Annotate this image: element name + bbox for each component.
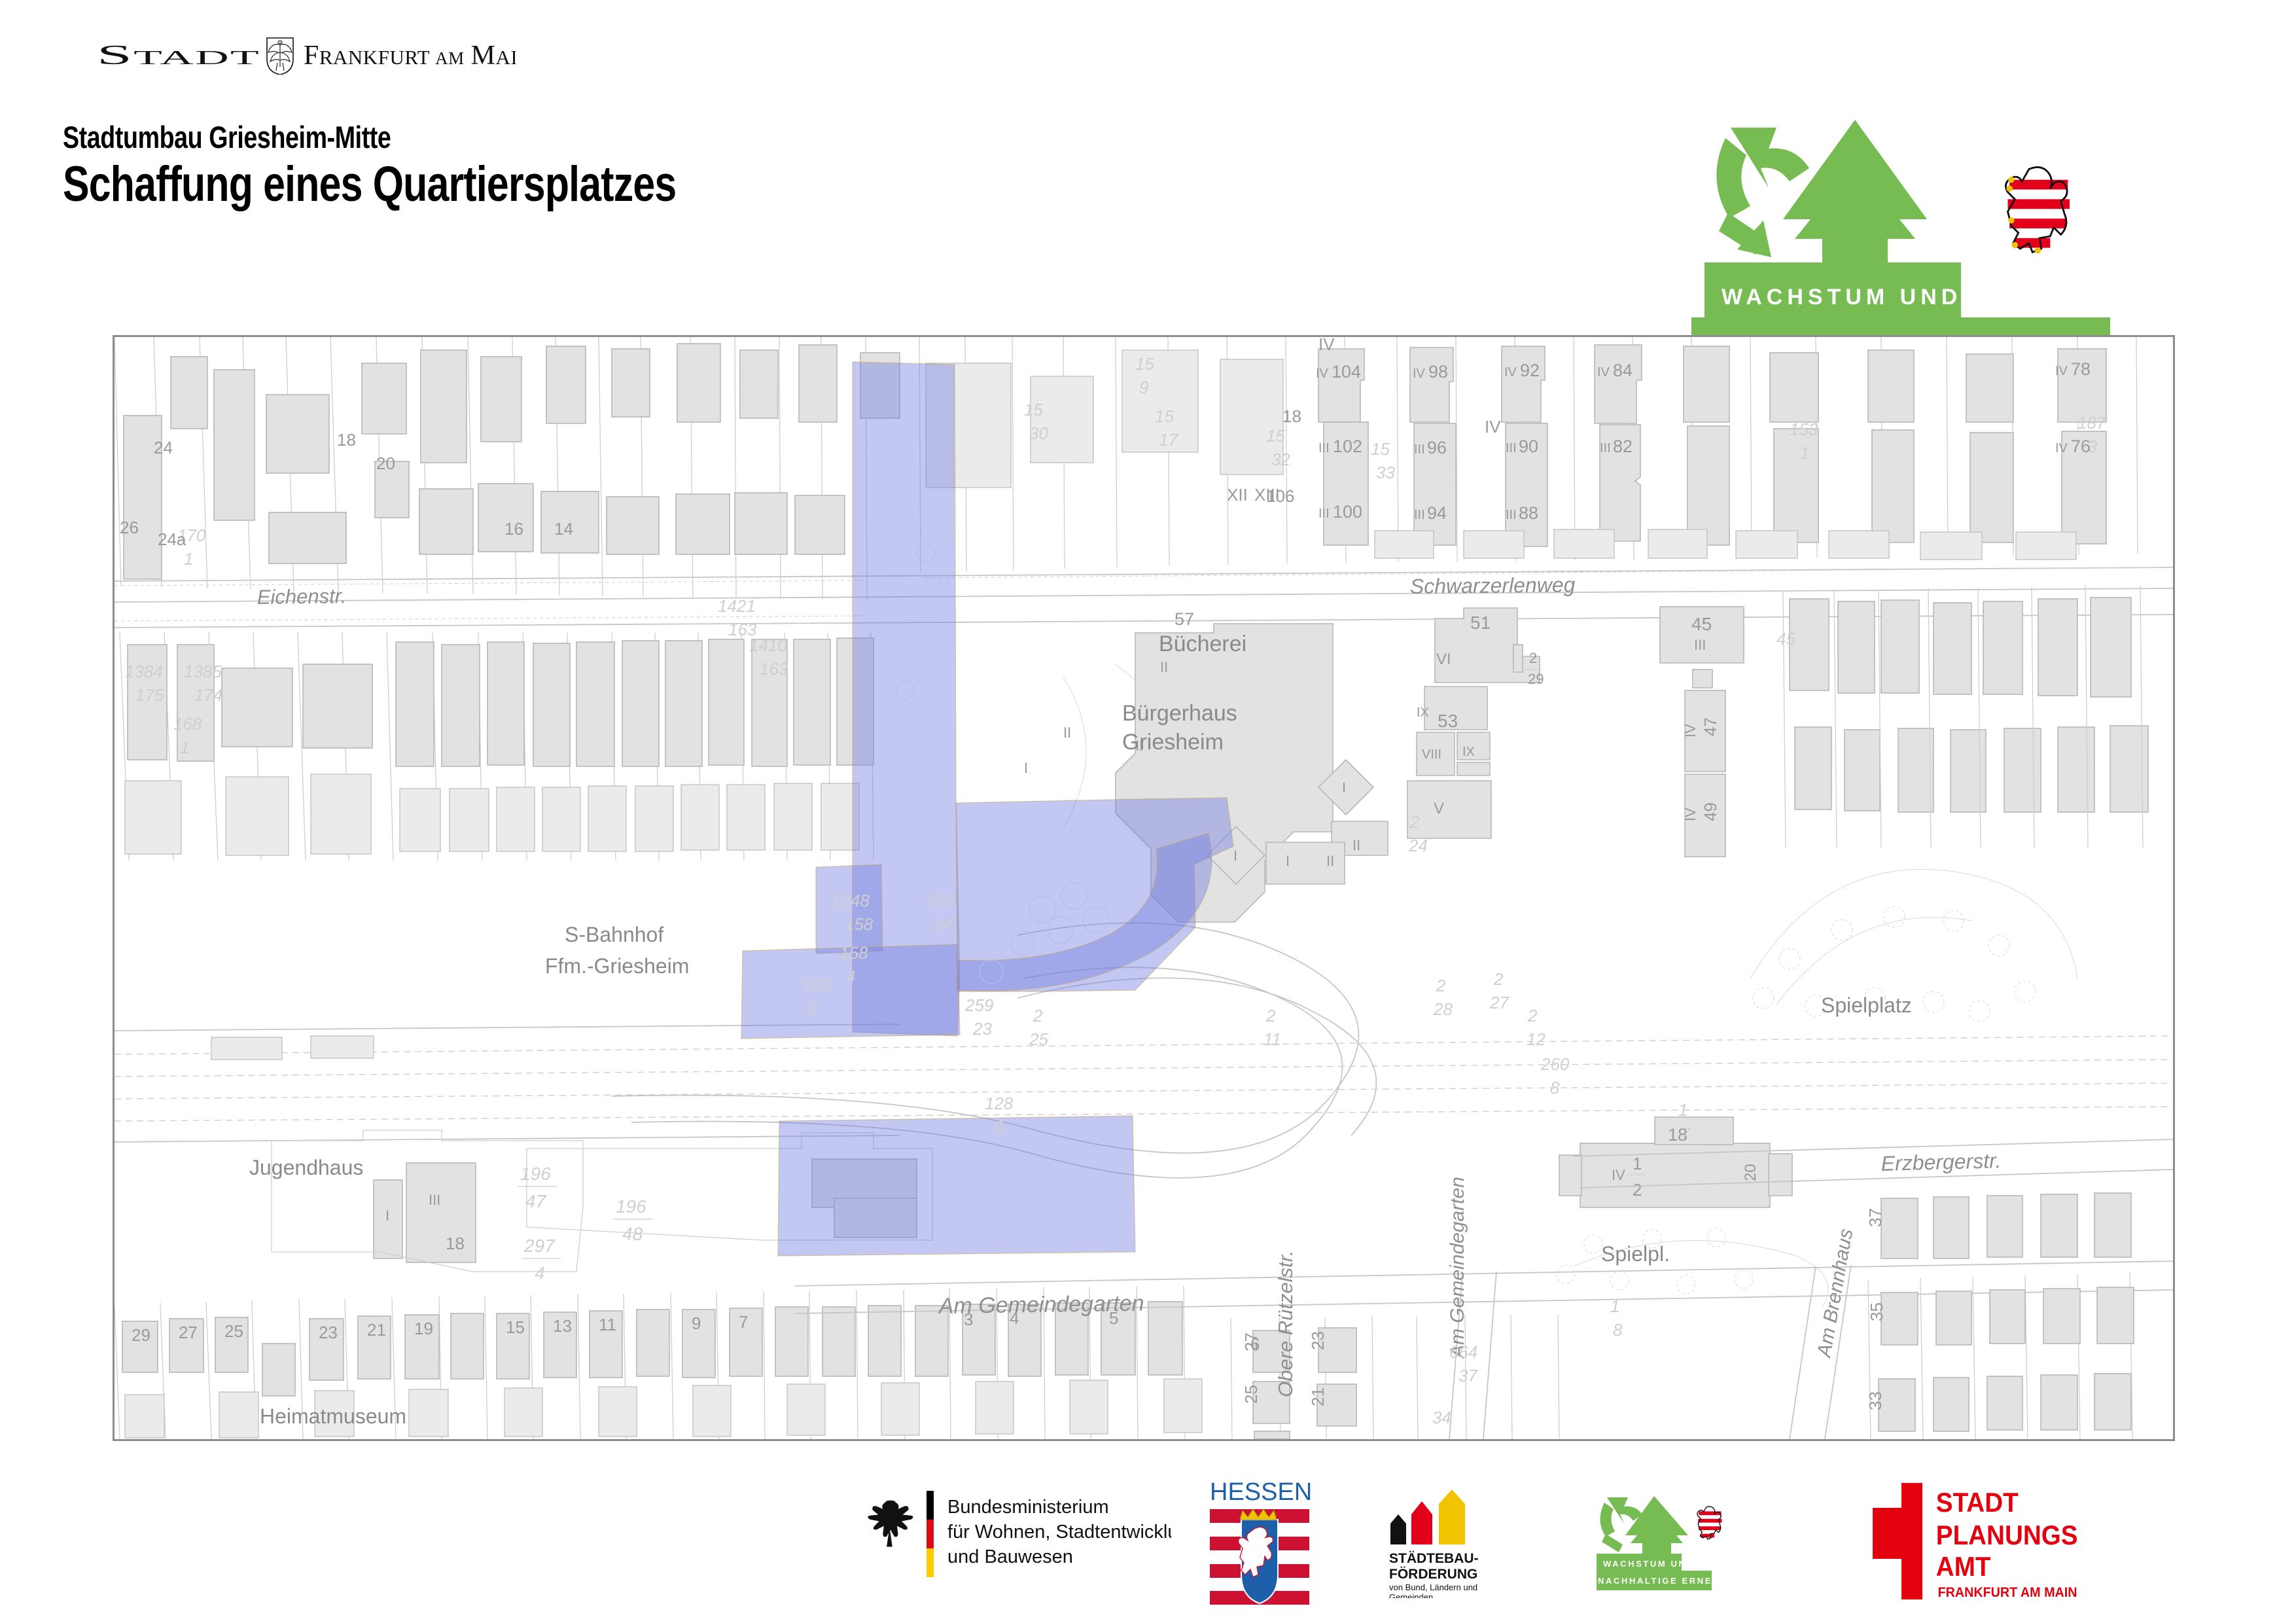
frankfurt-red-block-icon bbox=[1873, 1483, 1922, 1599]
svg-text:6: 6 bbox=[994, 1117, 1004, 1137]
svg-text:76: 76 bbox=[2071, 437, 2091, 456]
place-label-sbahnhof-2: Ffm.-Griesheim bbox=[545, 954, 689, 978]
cadastral-map[interactable]: .bld { fill:#e2e2e2; stroke:#b7b7b7; str… bbox=[113, 335, 2175, 1441]
svg-text:82: 82 bbox=[1613, 437, 1633, 456]
wachstum-footer-line2: NACHHALTIGE ERNEUERUNG bbox=[1598, 1576, 1759, 1586]
svg-text:158: 158 bbox=[839, 943, 868, 963]
svg-text:1384: 1384 bbox=[125, 662, 163, 681]
svg-text:49: 49 bbox=[1701, 802, 1720, 821]
svg-text:15: 15 bbox=[1266, 426, 1285, 446]
page-subtitle: Stadtumbau Griesheim-Mitte bbox=[63, 119, 391, 155]
svg-text:27: 27 bbox=[1241, 1332, 1261, 1351]
svg-text:13: 13 bbox=[553, 1316, 572, 1336]
svg-text:128: 128 bbox=[985, 1094, 1014, 1113]
place-label-sbahnhof: S-Bahnhof bbox=[565, 923, 663, 946]
spa-line2: PLANUNGS bbox=[1936, 1519, 2078, 1550]
bmwsb-line2: für Wohnen, Stadtentwicklung bbox=[947, 1522, 1171, 1543]
logo-hessen: HESSEN bbox=[1207, 1479, 1312, 1607]
svg-text:2: 2 bbox=[1033, 1006, 1043, 1026]
svg-text:III: III bbox=[1318, 507, 1330, 521]
svg-text:IV: IV bbox=[1316, 366, 1329, 381]
spa-line3: AMT bbox=[1936, 1550, 1991, 1582]
bmwsb-line3: und Bauwesen bbox=[947, 1546, 1073, 1567]
svg-text:III: III bbox=[1694, 637, 1706, 653]
place-label-spielplatz: Spielplatz bbox=[1821, 993, 1912, 1017]
svg-text:98: 98 bbox=[1428, 362, 1448, 382]
svg-text:2: 2 bbox=[1529, 650, 1537, 666]
svg-text:3: 3 bbox=[964, 1310, 973, 1329]
svg-text:III: III bbox=[1600, 441, 1611, 455]
svg-text:II: II bbox=[1063, 724, 1071, 741]
svg-text:1385: 1385 bbox=[184, 662, 222, 681]
logo-staedtebaufoerderung: STÄDTEBAU- FÖRDERUNG von Bund, Ländern u… bbox=[1384, 1487, 1508, 1598]
svg-text:IV: IV bbox=[1612, 1167, 1625, 1183]
svg-text:24: 24 bbox=[154, 438, 173, 457]
svg-text:IV: IV bbox=[1504, 365, 1517, 380]
svg-text:37: 37 bbox=[1865, 1208, 1885, 1227]
svg-text:100: 100 bbox=[1333, 502, 1362, 522]
svg-text:47: 47 bbox=[525, 1191, 547, 1211]
svg-text:IV: IV bbox=[1682, 724, 1699, 738]
svg-text:47: 47 bbox=[1701, 717, 1720, 736]
svg-text:IV: IV bbox=[1413, 366, 1426, 381]
svg-text:26: 26 bbox=[120, 518, 139, 537]
svg-text:175: 175 bbox=[135, 685, 164, 705]
svg-text:1: 1 bbox=[180, 738, 189, 757]
staedtebau-line3: von Bund, Ländern und bbox=[1389, 1582, 1477, 1592]
svg-text:159: 159 bbox=[802, 976, 830, 995]
svg-text:2: 2 bbox=[1493, 969, 1504, 989]
svg-text:2: 2 bbox=[1409, 812, 1420, 832]
svg-text:32: 32 bbox=[1271, 450, 1290, 469]
svg-text:2: 2 bbox=[1265, 1006, 1276, 1026]
place-label-buergerhaus-2: Griesheim bbox=[1122, 730, 1224, 755]
street-label-eichenstr: Eichenstr. bbox=[257, 584, 347, 609]
svg-text:297: 297 bbox=[523, 1236, 556, 1256]
svg-text:2: 2 bbox=[1527, 1006, 1538, 1026]
svg-text:18: 18 bbox=[1282, 406, 1301, 426]
svg-text:XII: XII bbox=[1227, 485, 1248, 505]
svg-text:IV: IV bbox=[2055, 441, 2068, 455]
svg-text:I: I bbox=[1024, 760, 1028, 776]
street-label-erzbergerstr: Erzbergerstr. bbox=[1881, 1149, 2002, 1175]
place-label-buecherei: Bücherei bbox=[1159, 632, 1246, 656]
svg-text:VI: VI bbox=[1436, 651, 1451, 668]
city-logo: STADT FRANKFURTAMMAIN bbox=[97, 34, 516, 75]
svg-text:48: 48 bbox=[622, 1224, 643, 1244]
svg-text:VIII: VIII bbox=[1422, 747, 1441, 762]
svg-text:196: 196 bbox=[520, 1164, 551, 1184]
logo-bundesministerium: Bundesministerium für Wohnen, Stadtentwi… bbox=[864, 1487, 1171, 1585]
place-label-spielpl: Spielpl. bbox=[1601, 1242, 1670, 1266]
svg-text:259: 259 bbox=[925, 891, 954, 910]
svg-text:17: 17 bbox=[1159, 430, 1178, 450]
svg-text:I: I bbox=[1342, 779, 1346, 796]
svg-text:5: 5 bbox=[1109, 1308, 1118, 1328]
staedtebau-line2: FÖRDERUNG bbox=[1389, 1567, 1477, 1582]
svg-text:XIII: XIII bbox=[1254, 485, 1280, 505]
svg-text:IV: IV bbox=[1597, 365, 1610, 380]
svg-text:174: 174 bbox=[194, 685, 222, 705]
svg-text:260: 260 bbox=[1540, 1054, 1570, 1074]
hessen-label: HESSEN bbox=[1210, 1479, 1312, 1506]
svg-text:9: 9 bbox=[692, 1313, 701, 1333]
svg-text:88: 88 bbox=[1519, 503, 1538, 523]
svg-text:163: 163 bbox=[728, 620, 757, 639]
svg-text:IX: IX bbox=[1462, 745, 1475, 759]
svg-text:11: 11 bbox=[1263, 1029, 1281, 1049]
spa-line1: STADT bbox=[1936, 1486, 2019, 1518]
svg-text:11: 11 bbox=[599, 1315, 616, 1334]
svg-text:III: III bbox=[429, 1192, 440, 1208]
parcel-number-57: 57 bbox=[1174, 609, 1194, 629]
staedtebau-line1: STÄDTEBAU- bbox=[1389, 1551, 1479, 1566]
svg-text:29: 29 bbox=[132, 1325, 150, 1345]
svg-text:19: 19 bbox=[414, 1319, 433, 1338]
svg-text:8: 8 bbox=[1613, 1320, 1623, 1340]
svg-text:1: 1 bbox=[1678, 1100, 1687, 1120]
svg-text:187: 187 bbox=[2077, 413, 2107, 433]
place-label-heimatmuseum: Heimatmuseum bbox=[260, 1404, 406, 1428]
svg-text:III: III bbox=[1414, 508, 1425, 522]
svg-text:4: 4 bbox=[535, 1263, 545, 1283]
logo-wachstum-footer: WACHSTUM UND NACHHALTIGE ERNEUERUNG bbox=[1597, 1492, 1773, 1590]
svg-text:23: 23 bbox=[319, 1323, 338, 1342]
place-label-buergerhaus: Bürgerhaus bbox=[1122, 701, 1237, 726]
street-label-am-gemeindegarten-vert: Am Gemeindegarten bbox=[1447, 1177, 1468, 1359]
svg-text:15: 15 bbox=[506, 1317, 525, 1337]
svg-text:8: 8 bbox=[1550, 1078, 1560, 1097]
svg-text:104: 104 bbox=[1332, 362, 1361, 382]
svg-text:1421: 1421 bbox=[718, 596, 756, 616]
svg-text:15: 15 bbox=[1024, 400, 1043, 419]
svg-text:259: 259 bbox=[964, 995, 993, 1015]
program-logo-line1: WACHSTUM UND bbox=[1722, 285, 1962, 310]
svg-text:45: 45 bbox=[1776, 629, 1795, 649]
parcel-number-53: 53 bbox=[1438, 711, 1458, 731]
svg-text:23: 23 bbox=[1308, 1331, 1328, 1350]
svg-text:20: 20 bbox=[376, 454, 395, 473]
svg-text:34: 34 bbox=[1432, 1408, 1451, 1427]
svg-text:2: 2 bbox=[807, 999, 818, 1019]
svg-text:90: 90 bbox=[1519, 437, 1538, 456]
svg-text:9: 9 bbox=[1139, 378, 1148, 397]
svg-text:30: 30 bbox=[1029, 423, 1048, 443]
svg-text:IV: IV bbox=[1682, 808, 1699, 821]
svg-text:IV: IV bbox=[1485, 417, 1501, 437]
svg-text:92: 92 bbox=[1520, 361, 1540, 380]
svg-text:III: III bbox=[1506, 441, 1517, 455]
svg-text:15: 15 bbox=[1155, 406, 1174, 426]
svg-text:14: 14 bbox=[554, 519, 573, 539]
svg-text:21: 21 bbox=[1308, 1387, 1328, 1406]
svg-text:III: III bbox=[1318, 441, 1330, 455]
svg-text:24: 24 bbox=[933, 914, 953, 934]
svg-text:664: 664 bbox=[1449, 1342, 1477, 1362]
svg-text:1: 1 bbox=[1610, 1296, 1619, 1316]
svg-text:20: 20 bbox=[1742, 1164, 1759, 1181]
svg-text:18: 18 bbox=[446, 1234, 465, 1253]
svg-text:158: 158 bbox=[845, 914, 874, 934]
svg-text:96: 96 bbox=[1427, 438, 1447, 457]
svg-text:III: III bbox=[1414, 442, 1425, 457]
svg-text:33: 33 bbox=[1376, 463, 1395, 482]
parcel-number-51: 51 bbox=[1470, 613, 1491, 633]
svg-text:196: 196 bbox=[616, 1196, 646, 1217]
svg-text:25: 25 bbox=[1241, 1385, 1261, 1404]
svg-text:27: 27 bbox=[1489, 993, 1510, 1012]
staedtebau-line4: Gemeinden bbox=[1389, 1592, 1433, 1598]
svg-text:1: 1 bbox=[184, 549, 193, 569]
svg-text:18: 18 bbox=[337, 430, 356, 450]
svg-text:7: 7 bbox=[739, 1312, 748, 1332]
svg-text:168: 168 bbox=[173, 714, 202, 734]
svg-text:163: 163 bbox=[760, 659, 788, 679]
svg-text:II: II bbox=[1352, 837, 1360, 853]
svg-text:2: 2 bbox=[1633, 1180, 1642, 1200]
svg-text:33: 33 bbox=[1865, 1391, 1885, 1410]
svg-text:94: 94 bbox=[1427, 503, 1447, 523]
svg-text:V: V bbox=[1434, 800, 1444, 817]
page-title: Schaffung eines Quartiersplatzes bbox=[63, 156, 676, 213]
svg-text:12: 12 bbox=[1527, 1029, 1545, 1049]
svg-text:15: 15 bbox=[1135, 354, 1154, 374]
svg-text:1: 1 bbox=[1633, 1154, 1642, 1173]
svg-text:28: 28 bbox=[1433, 999, 1453, 1019]
svg-text:27: 27 bbox=[179, 1323, 198, 1342]
parcel-number-45: 45 bbox=[1691, 614, 1712, 634]
svg-text:84: 84 bbox=[1613, 361, 1633, 380]
svg-text:IX: IX bbox=[1417, 705, 1429, 720]
svg-text:153: 153 bbox=[1790, 419, 1818, 439]
svg-text:IV: IV bbox=[2055, 364, 2068, 378]
street-label-obere-ruetzelstr: Obere Rützelstr. bbox=[1274, 1250, 1297, 1397]
svg-text:1248: 1248 bbox=[832, 891, 870, 910]
svg-text:I: I bbox=[385, 1207, 389, 1224]
svg-text:102: 102 bbox=[1333, 437, 1362, 456]
svg-text:25: 25 bbox=[1029, 1029, 1048, 1049]
place-label-jugendhaus: Jugendhaus bbox=[249, 1156, 363, 1179]
svg-text:STADT: STADT bbox=[97, 41, 260, 71]
bmwsb-line1: Bundesministerium bbox=[947, 1497, 1109, 1518]
street-label-schwarzerlenweg: Schwarzerlenweg bbox=[1410, 573, 1576, 598]
spa-line4: FRANKFURT AM MAIN bbox=[1938, 1585, 2077, 1600]
svg-text:16: 16 bbox=[504, 519, 523, 539]
svg-text:I: I bbox=[1233, 847, 1237, 864]
logo-stadtplanungsamt: STADT PLANUNGS AMT FRANKFURT AM MAIN bbox=[1852, 1480, 2140, 1601]
floor-count: II bbox=[1160, 659, 1168, 675]
svg-text:15: 15 bbox=[1371, 439, 1390, 459]
svg-text:78: 78 bbox=[2071, 359, 2091, 379]
svg-text:2: 2 bbox=[1436, 976, 1446, 995]
svg-text:35: 35 bbox=[1867, 1302, 1886, 1321]
svg-text:IV: IV bbox=[1318, 337, 1335, 354]
svg-text:21: 21 bbox=[367, 1320, 386, 1340]
svg-text:III: III bbox=[1506, 508, 1517, 522]
svg-text:1: 1 bbox=[1800, 443, 1809, 463]
svg-text:4: 4 bbox=[846, 967, 855, 986]
svg-text:FRANKFURTAMMAIN: FRANKFURTAMMAIN bbox=[304, 41, 516, 71]
svg-text:24: 24 bbox=[1408, 836, 1428, 855]
svg-text:25: 25 bbox=[224, 1321, 243, 1341]
svg-text:23: 23 bbox=[972, 1019, 992, 1039]
svg-text:4: 4 bbox=[1010, 1308, 1019, 1328]
wachstum-footer-line1: WACHSTUM UND bbox=[1603, 1559, 1695, 1569]
svg-text:37: 37 bbox=[1458, 1366, 1478, 1385]
svg-text:II: II bbox=[1326, 853, 1334, 869]
svg-text:29: 29 bbox=[1528, 671, 1544, 687]
svg-text:7: 7 bbox=[1681, 1124, 1691, 1143]
svg-text:24a: 24a bbox=[158, 529, 186, 549]
svg-text:I: I bbox=[1286, 853, 1290, 869]
